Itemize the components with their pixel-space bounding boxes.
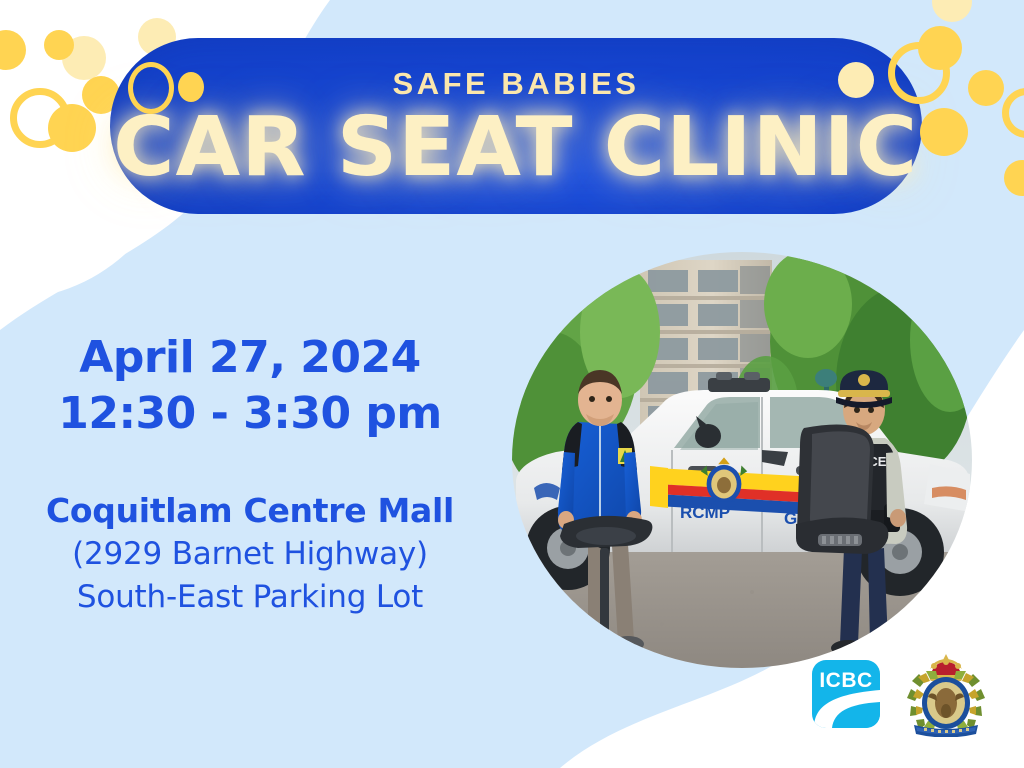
dot-gold-6 (918, 26, 962, 70)
photo-illustration: RCMP GRC (512, 252, 972, 668)
poster-canvas: SAFE BABIES CAR SEAT CLINIC April 27, 20… (0, 0, 1024, 768)
event-date: April 27, 2024 (0, 330, 500, 386)
decal-rcmp: RCMP (680, 503, 730, 522)
header-banner: SAFE BABIES CAR SEAT CLINIC (110, 38, 922, 214)
ring-gold-1 (10, 88, 70, 148)
rcmp-logo (906, 651, 986, 737)
event-venue: Coquitlam Centre Mall (0, 489, 500, 534)
dot-gold-banner-left (178, 72, 204, 102)
dot-gold-5 (44, 30, 74, 60)
event-where: Coquitlam Centre Mall (2929 Barnet Highw… (0, 489, 500, 619)
banner-headline: CAR SEAT CLINIC (113, 105, 918, 191)
event-photo: RCMP GRC (512, 252, 972, 668)
event-address: (2929 Barnet Highway) (0, 533, 500, 576)
event-time: 12:30 - 3:30 pm (0, 386, 500, 442)
banner-eyebrow: SAFE BABIES (393, 68, 640, 99)
icbc-swoosh-icon (812, 660, 880, 728)
event-when: April 27, 2024 12:30 - 3:30 pm (0, 330, 500, 443)
dot-gold-7 (920, 108, 968, 156)
event-parking-lot: South-East Parking Lot (0, 576, 500, 619)
dot-gold-8 (968, 70, 1004, 106)
icbc-logo: ICBC (812, 660, 880, 728)
dot-pale-3 (838, 62, 874, 98)
event-details: April 27, 2024 12:30 - 3:30 pm Coquitlam… (0, 330, 500, 619)
sponsor-logos: ICBC (812, 644, 1012, 744)
ring-gold-banner-left (128, 62, 174, 114)
